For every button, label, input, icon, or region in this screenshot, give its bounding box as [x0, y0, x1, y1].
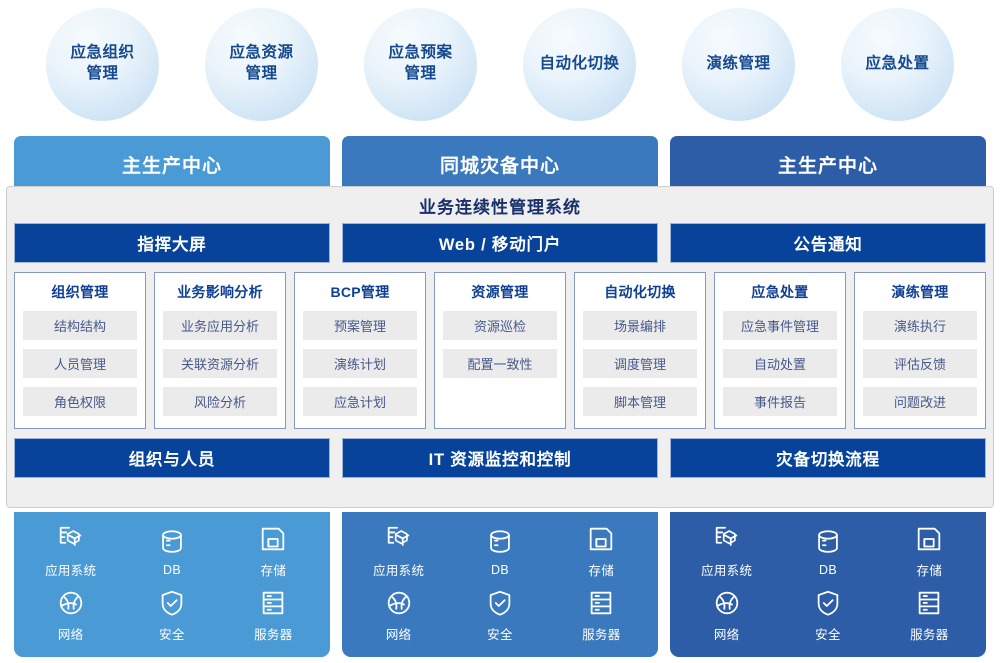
module-card-5: 自动化切换场景编排调度管理脚本管理	[574, 272, 706, 429]
infra-item-label: 安全	[815, 624, 841, 643]
module-item-chip[interactable]: 问题改进	[863, 387, 977, 416]
bubble-label-line1: 演练管理	[706, 54, 770, 75]
infra-item-label: 应用系统	[45, 560, 96, 579]
infra-item-label: 网络	[58, 624, 84, 643]
capability-bubble-5[interactable]: 演练管理	[682, 8, 795, 121]
module-item-chip[interactable]: 评估反馈	[863, 349, 977, 378]
bcm-bottom-band-2[interactable]: IT 资源监控和控制	[342, 438, 658, 478]
capability-bubble-1[interactable]: 应急组织管理	[46, 8, 159, 121]
infra-item-label: 存储	[261, 560, 287, 579]
infra-item[interactable]: DB	[813, 527, 843, 577]
module-card-title: BCP管理	[330, 282, 389, 302]
module-item-chip[interactable]: 关联资源分析	[163, 349, 277, 378]
storage-icon	[914, 524, 944, 554]
network-icon	[712, 588, 742, 618]
infra-item[interactable]: 网络	[384, 588, 414, 643]
module-item-chip[interactable]: 演练计划	[303, 349, 417, 378]
infrastructure-panel-3: 应用系统DB存储网络安全服务器	[670, 512, 986, 657]
infra-item[interactable]: 存储	[586, 524, 616, 579]
infra-item-label: 存储	[917, 560, 943, 579]
database-icon	[157, 527, 187, 557]
module-card-title: 业务影响分析	[177, 282, 263, 302]
infra-item-label: 网络	[386, 624, 412, 643]
infra-item[interactable]: 服务器	[254, 588, 292, 643]
infra-item-label: 应用系统	[373, 560, 424, 579]
module-card-title: 应急处置	[751, 282, 808, 302]
server-rack-icon	[586, 588, 616, 618]
module-card-7: 演练管理演练执行评估反馈问题改进	[854, 272, 986, 429]
module-item-chip[interactable]: 角色权限	[23, 387, 137, 416]
module-item-chip[interactable]: 事件报告	[723, 387, 837, 416]
security-shield-icon	[813, 588, 843, 618]
application-system-icon	[712, 524, 742, 554]
module-card-4: 资源管理资源巡检配置一致性	[434, 272, 566, 429]
bubble-label-line2: 管理	[86, 64, 118, 85]
capability-bubble-3[interactable]: 应急预案管理	[364, 8, 477, 121]
database-icon	[813, 527, 843, 557]
bubble-label-line2: 管理	[245, 64, 277, 85]
module-item-chip[interactable]: 应急事件管理	[723, 311, 837, 340]
server-rack-icon	[258, 588, 288, 618]
module-item-chip[interactable]: 资源巡检	[443, 311, 557, 340]
bcm-top-band-row: 指挥大屏Web / 移动门户公告通知	[7, 223, 993, 263]
bcm-system-title: 业务连续性管理系统	[7, 187, 993, 223]
infra-item[interactable]: 存储	[258, 524, 288, 579]
infra-item-label: 存储	[589, 560, 615, 579]
data-center-header-2: 同城灾备中心	[342, 136, 658, 192]
infra-item[interactable]: 服务器	[582, 588, 620, 643]
infra-item[interactable]: 网络	[56, 588, 86, 643]
module-item-chip[interactable]: 应急计划	[303, 387, 417, 416]
infra-item[interactable]: 应用系统	[45, 524, 96, 579]
infrastructure-panel-row: 应用系统DB存储网络安全服务器应用系统DB存储网络安全服务器应用系统DB存储网络…	[0, 512, 1000, 663]
infrastructure-panel-1: 应用系统DB存储网络安全服务器	[14, 512, 330, 657]
module-item-chip[interactable]: 配置一致性	[443, 349, 557, 378]
module-card-6: 应急处置应急事件管理自动处置事件报告	[714, 272, 846, 429]
infra-item[interactable]: 存储	[914, 524, 944, 579]
bubble-label-line1: 应急预案	[388, 43, 452, 64]
infra-item-label: 安全	[159, 624, 185, 643]
infra-item-label: DB	[163, 563, 181, 577]
module-card-1: 组织管理结构结构人员管理角色权限	[14, 272, 146, 429]
security-shield-icon	[485, 588, 515, 618]
module-item-chip[interactable]: 业务应用分析	[163, 311, 277, 340]
infra-item[interactable]: 应用系统	[373, 524, 424, 579]
bcm-container: 业务连续性管理系统 指挥大屏Web / 移动门户公告通知 组织管理结构结构人员管…	[6, 186, 994, 508]
module-item-chip[interactable]: 人员管理	[23, 349, 137, 378]
bubble-label-line2: 管理	[404, 64, 436, 85]
module-item-chip[interactable]: 自动处置	[723, 349, 837, 378]
infra-item[interactable]: 安全	[157, 588, 187, 643]
infra-item[interactable]: 服务器	[910, 588, 948, 643]
infra-item-label: 应用系统	[701, 560, 752, 579]
data-center-header-3: 主生产中心	[670, 136, 986, 192]
bcm-top-band-3[interactable]: 公告通知	[670, 223, 986, 263]
bcm-top-band-1[interactable]: 指挥大屏	[14, 223, 330, 263]
module-card-3: BCP管理预案管理演练计划应急计划	[294, 272, 426, 429]
bubble-label-line1: 自动化切换	[539, 54, 619, 75]
infra-item[interactable]: 安全	[485, 588, 515, 643]
infra-item[interactable]: 网络	[712, 588, 742, 643]
module-card-title: 组织管理	[51, 282, 108, 302]
module-item-chip[interactable]: 结构结构	[23, 311, 137, 340]
application-system-icon	[384, 524, 414, 554]
module-item-chip[interactable]: 调度管理	[583, 349, 697, 378]
infra-item-label: DB	[819, 563, 837, 577]
network-icon	[56, 588, 86, 618]
module-card-2: 业务影响分析业务应用分析关联资源分析风险分析	[154, 272, 286, 429]
network-icon	[384, 588, 414, 618]
infra-item[interactable]: DB	[157, 527, 187, 577]
module-item-chip[interactable]: 演练执行	[863, 311, 977, 340]
bubble-label-line1: 应急资源	[229, 43, 293, 64]
infra-item-label: 安全	[487, 624, 513, 643]
infra-item-label: 服务器	[910, 624, 948, 643]
security-shield-icon	[157, 588, 187, 618]
infra-item[interactable]: DB	[485, 527, 515, 577]
storage-icon	[258, 524, 288, 554]
emergency-capability-bubble-row: 应急组织管理应急资源管理应急预案管理自动化切换演练管理应急处置	[0, 0, 1000, 128]
module-card-title: 自动化切换	[604, 282, 676, 302]
bubble-label-line1: 应急处置	[865, 54, 929, 75]
bcm-module-card-row: 组织管理结构结构人员管理角色权限业务影响分析业务应用分析关联资源分析风险分析BC…	[7, 263, 993, 429]
module-item-chip[interactable]: 预案管理	[303, 311, 417, 340]
bubble-label-line1: 应急组织	[70, 43, 134, 64]
bcm-bottom-band-3[interactable]: 灾备切换流程	[670, 438, 986, 478]
module-item-chip[interactable]: 场景编排	[583, 311, 697, 340]
capability-bubble-4[interactable]: 自动化切换	[523, 8, 636, 121]
infra-item-label: 网络	[714, 624, 740, 643]
application-system-icon	[56, 524, 86, 554]
infra-item-label: 服务器	[582, 624, 620, 643]
module-card-title: 资源管理	[471, 282, 528, 302]
database-icon	[485, 527, 515, 557]
infra-item-label: DB	[491, 563, 509, 577]
infra-item[interactable]: 应用系统	[701, 524, 752, 579]
bcm-top-band-2[interactable]: Web / 移动门户	[342, 223, 658, 263]
data-center-header-1: 主生产中心	[14, 136, 330, 192]
infra-item-label: 服务器	[254, 624, 292, 643]
server-rack-icon	[914, 588, 944, 618]
bcm-bottom-band-1[interactable]: 组织与人员	[14, 438, 330, 478]
infra-item[interactable]: 安全	[813, 588, 843, 643]
storage-icon	[586, 524, 616, 554]
module-item-chip[interactable]: 脚本管理	[583, 387, 697, 416]
infrastructure-panel-2: 应用系统DB存储网络安全服务器	[342, 512, 658, 657]
module-card-title: 演练管理	[891, 282, 948, 302]
data-center-header-row: 主生产中心同城灾备中心主生产中心	[0, 136, 1000, 192]
module-item-chip[interactable]: 风险分析	[163, 387, 277, 416]
capability-bubble-2[interactable]: 应急资源管理	[205, 8, 318, 121]
bcm-bottom-band-row: 组织与人员IT 资源监控和控制灾备切换流程	[7, 438, 993, 478]
capability-bubble-6[interactable]: 应急处置	[841, 8, 954, 121]
